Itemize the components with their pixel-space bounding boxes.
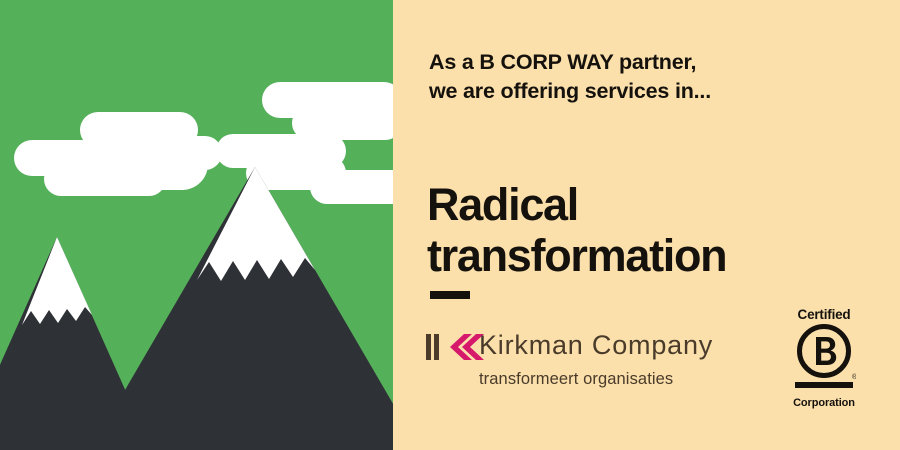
marketing-banner: As a B CORP WAY partner, we are offering…	[0, 0, 900, 450]
kirkman-chevron-icon	[426, 332, 484, 362]
kirkman-company-logo: Kirkman Company transformeert organisati…	[426, 330, 746, 400]
illustration-artwork	[0, 0, 393, 450]
bcorp-registered-mark: ®	[852, 373, 856, 381]
page-title: Radical transformation	[427, 180, 887, 281]
content-panel: As a B CORP WAY partner, we are offering…	[393, 0, 900, 450]
mountain-illustration	[0, 0, 393, 450]
bcorp-corporation-label: Corporation	[783, 397, 865, 409]
cloud-icon-right	[310, 170, 393, 204]
bcorp-certified-label: Certified	[783, 307, 865, 322]
kirkman-wordmark: Kirkman Company	[479, 330, 713, 361]
bcorp-certification-badge: Certified ® Corporation	[783, 307, 865, 413]
divider-rule	[430, 291, 470, 299]
kirkman-tagline: transformeert organisaties	[479, 370, 673, 389]
bcorp-circle-b-icon: ®	[792, 324, 856, 392]
kicker-text: As a B CORP WAY partner, we are offering…	[429, 48, 869, 106]
